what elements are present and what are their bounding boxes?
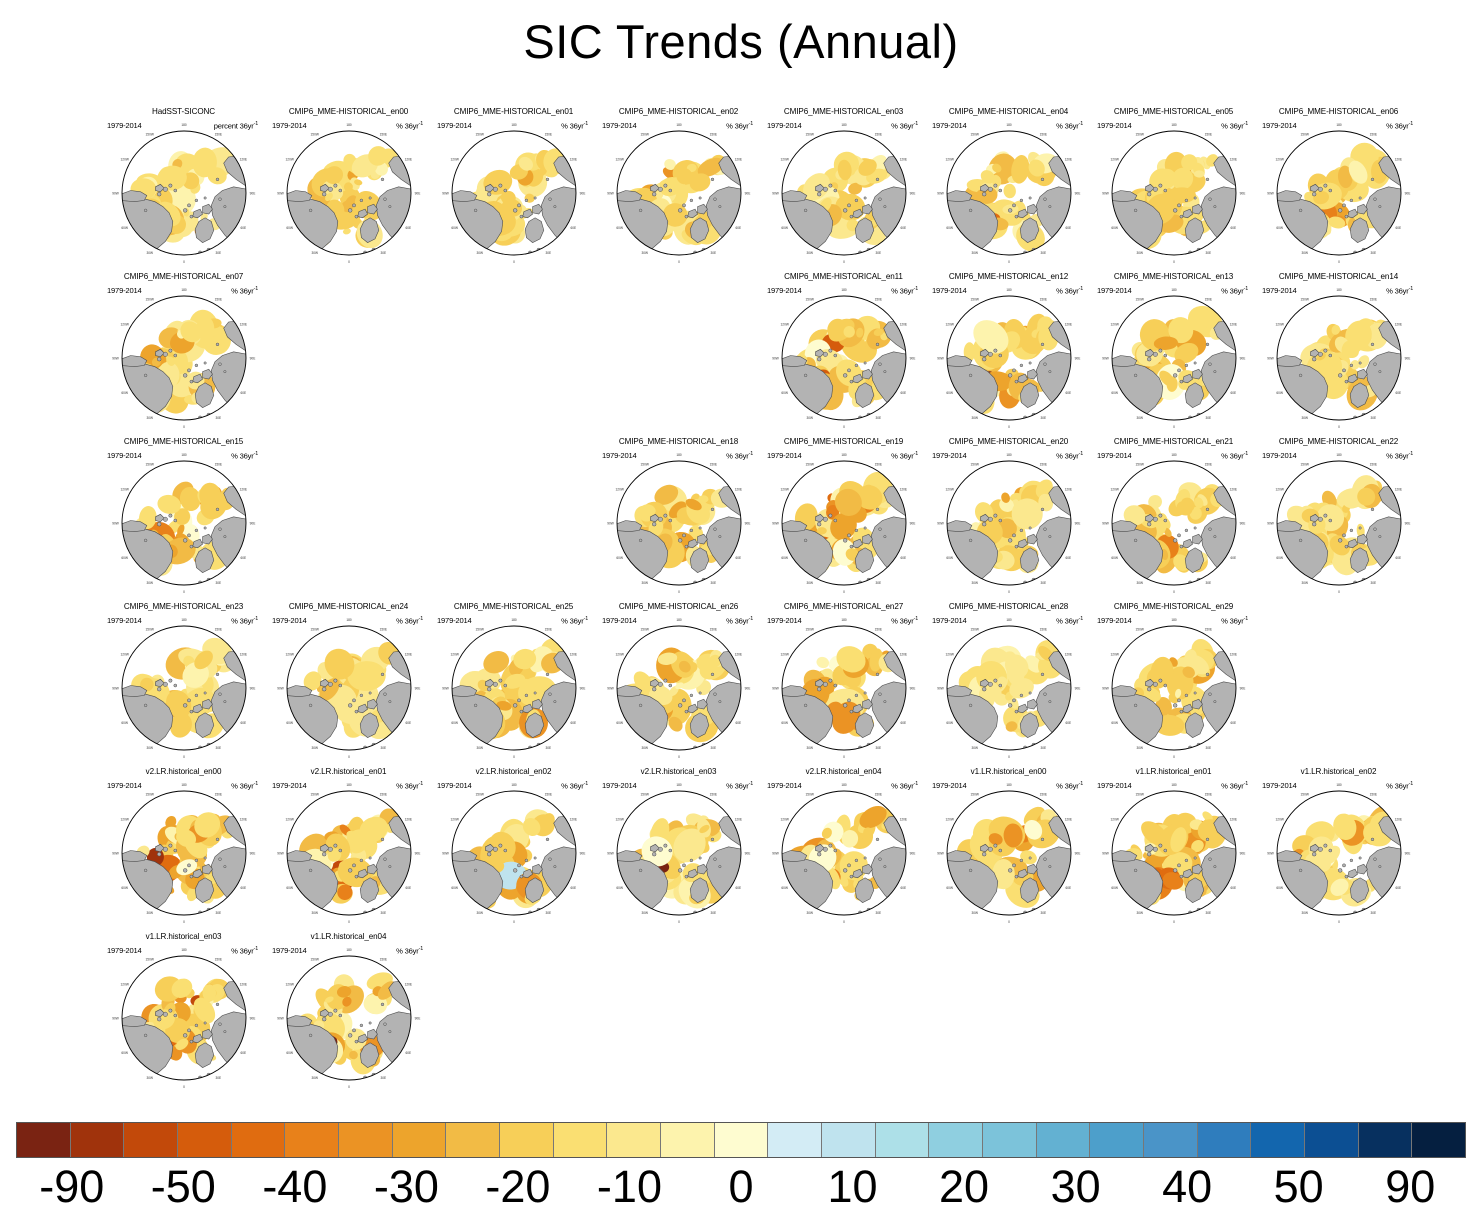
longitude-label: 150W bbox=[146, 627, 154, 631]
island bbox=[1177, 204, 1180, 207]
longitude-label: 60W bbox=[781, 226, 788, 230]
longitude-label: 60W bbox=[946, 886, 953, 890]
longitude-label: 180 bbox=[1006, 783, 1012, 787]
longitude-label: 0 bbox=[348, 755, 350, 759]
longitude-label: 120E bbox=[900, 487, 907, 491]
island bbox=[1020, 364, 1023, 367]
longitude-label: 150E bbox=[545, 132, 552, 136]
island bbox=[204, 1022, 206, 1024]
longitude-label: 30W bbox=[477, 746, 484, 750]
longitude-label: 30E bbox=[545, 911, 551, 915]
longitude-label: 150E bbox=[1370, 132, 1377, 136]
island bbox=[1342, 369, 1345, 372]
polar-map: 180150E120E90E60E30E030W60W90W120W150W bbox=[440, 617, 588, 761]
panel-map: 180150E120E90E60E30E030W60W90W120W150W bbox=[1100, 782, 1248, 926]
island bbox=[1164, 849, 1167, 852]
longitude-label: 0 bbox=[1008, 590, 1010, 594]
island bbox=[169, 349, 172, 352]
longitude-label: 150E bbox=[710, 462, 717, 466]
longitude-label: 120W bbox=[1276, 817, 1284, 821]
map-panel: HadSST-SICONC1979-2014percent 36yr-11801… bbox=[101, 106, 266, 271]
colorbar-cell bbox=[285, 1123, 339, 1157]
island bbox=[1324, 349, 1327, 352]
panel-map: 180150E120E90E60E30E030W60W90W120W150W bbox=[770, 452, 918, 596]
island bbox=[1214, 535, 1216, 537]
island bbox=[546, 178, 549, 181]
longitude-label: 120E bbox=[240, 652, 247, 656]
longitude-label: 120E bbox=[570, 817, 577, 821]
longitude-label: 90W bbox=[1102, 192, 1109, 196]
colorbar-swatches bbox=[16, 1122, 1466, 1158]
longitude-label: 120W bbox=[1111, 817, 1119, 821]
island bbox=[1371, 508, 1374, 511]
island bbox=[554, 700, 556, 702]
polar-map: 180150E120E90E60E30E030W60W90W120W150W bbox=[1100, 122, 1248, 266]
longitude-label: 60E bbox=[900, 226, 906, 230]
longitude-label: 30W bbox=[312, 911, 319, 915]
island bbox=[1194, 527, 1196, 529]
island bbox=[504, 684, 507, 687]
island bbox=[339, 849, 342, 852]
longitude-label: 150E bbox=[1205, 462, 1212, 466]
colorbar-cell bbox=[393, 1123, 447, 1157]
longitude-label: 120E bbox=[900, 817, 907, 821]
longitude-label: 30E bbox=[215, 1076, 221, 1080]
panel-map: 180150E120E90E60E30E030W60W90W120W150W bbox=[440, 122, 588, 266]
longitude-label: 120E bbox=[1230, 817, 1237, 821]
longitude-label: 0 bbox=[843, 755, 845, 759]
longitude-label: 150W bbox=[146, 462, 154, 466]
longitude-label: 90E bbox=[415, 1017, 421, 1021]
island bbox=[360, 199, 363, 202]
longitude-label: 60E bbox=[900, 556, 906, 560]
colorbar-cell bbox=[983, 1123, 1037, 1157]
longitude-label: 120W bbox=[1111, 157, 1119, 161]
island bbox=[190, 215, 193, 218]
longitude-label: 90W bbox=[772, 357, 779, 361]
island bbox=[879, 198, 882, 201]
longitude-label: 90E bbox=[1075, 357, 1081, 361]
longitude-label: 90E bbox=[1240, 192, 1246, 196]
longitude-label: 120W bbox=[946, 652, 954, 656]
polar-map: 180150E120E90E60E30E030W60W90W120W150W bbox=[1265, 287, 1413, 431]
island bbox=[884, 535, 886, 537]
island bbox=[1020, 859, 1023, 862]
island bbox=[219, 693, 222, 696]
island bbox=[1020, 199, 1023, 202]
island bbox=[834, 519, 837, 522]
longitude-label: 0 bbox=[1008, 920, 1010, 924]
longitude-label: 90W bbox=[1267, 852, 1274, 856]
island bbox=[504, 849, 507, 852]
longitude-label: 150W bbox=[311, 957, 319, 961]
map-panel: v1.LR.historical_en011979-2014% 36yr-118… bbox=[1091, 766, 1256, 931]
longitude-label: 120E bbox=[1230, 487, 1237, 491]
island bbox=[879, 858, 882, 861]
longitude-label: 90E bbox=[415, 852, 421, 856]
polar-map: 180150E120E90E60E30E030W60W90W120W150W bbox=[770, 452, 918, 596]
island bbox=[1299, 209, 1302, 212]
longitude-label: 150E bbox=[1370, 297, 1377, 301]
longitude-label: 30E bbox=[875, 581, 881, 585]
longitude-label: 0 bbox=[1173, 425, 1175, 429]
island bbox=[1342, 534, 1345, 537]
longitude-label: 30E bbox=[1040, 746, 1046, 750]
map-panel: CMIP6_MME-HISTORICAL_en201979-2014% 36yr… bbox=[926, 436, 1091, 601]
longitude-label: 60E bbox=[1395, 886, 1401, 890]
island bbox=[1049, 700, 1051, 702]
panel-map: 180150E120E90E60E30E030W60W90W120W150W bbox=[110, 782, 258, 926]
island bbox=[549, 858, 552, 861]
longitude-label: 150W bbox=[971, 297, 979, 301]
island bbox=[817, 357, 821, 361]
longitude-label: 60E bbox=[735, 886, 741, 890]
longitude-label: 60E bbox=[1065, 721, 1071, 725]
longitude-label: 120W bbox=[616, 157, 624, 161]
longitude-label: 60E bbox=[240, 1051, 246, 1055]
island bbox=[1177, 864, 1180, 867]
island bbox=[804, 209, 807, 212]
longitude-label: 60E bbox=[900, 886, 906, 890]
island bbox=[1359, 197, 1361, 199]
island bbox=[328, 1012, 332, 1016]
island bbox=[517, 864, 520, 867]
island bbox=[1379, 205, 1381, 207]
longitude-label: 30W bbox=[1137, 416, 1144, 420]
island bbox=[1299, 374, 1302, 377]
island bbox=[187, 369, 190, 372]
polar-map: 180150E120E90E60E30E030W60W90W120W150W bbox=[110, 122, 258, 266]
longitude-label: 120W bbox=[451, 817, 459, 821]
island bbox=[169, 184, 172, 187]
longitude-label: 120E bbox=[735, 652, 742, 656]
longitude-label: 30E bbox=[215, 581, 221, 585]
island bbox=[876, 178, 879, 181]
longitude-label: 180 bbox=[181, 453, 187, 457]
longitude-label: 0 bbox=[1008, 755, 1010, 759]
longitude-label: 180 bbox=[1171, 453, 1177, 457]
longitude-label: 30E bbox=[380, 251, 386, 255]
island bbox=[174, 684, 177, 687]
island bbox=[157, 852, 161, 856]
island bbox=[804, 374, 807, 377]
longitude-label: 90E bbox=[1075, 852, 1081, 856]
island bbox=[864, 362, 866, 364]
island bbox=[348, 704, 352, 708]
longitude-label: 30W bbox=[807, 911, 814, 915]
longitude-label: 90E bbox=[250, 357, 256, 361]
island bbox=[864, 527, 866, 529]
island bbox=[334, 184, 337, 187]
longitude-label: 120E bbox=[1230, 322, 1237, 326]
island bbox=[322, 192, 326, 196]
map-panel: CMIP6_MME-HISTORICAL_en251979-2014% 36yr… bbox=[431, 601, 596, 766]
island bbox=[355, 1040, 358, 1043]
longitude-label: 60W bbox=[1111, 721, 1118, 725]
longitude-label: 120E bbox=[1230, 652, 1237, 656]
map-panel: CMIP6_MME-HISTORICAL_en141979-2014% 36yr… bbox=[1256, 271, 1421, 436]
island bbox=[1345, 380, 1348, 383]
island bbox=[187, 1029, 190, 1032]
longitude-label: 150W bbox=[1136, 297, 1144, 301]
longitude-label: 90E bbox=[1405, 852, 1411, 856]
island bbox=[1008, 869, 1012, 873]
page-title: SIC Trends (Annual) bbox=[0, 14, 1482, 69]
island bbox=[988, 352, 992, 356]
polar-map: 180150E120E90E60E30E030W60W90W120W150W bbox=[605, 617, 753, 761]
longitude-label: 30W bbox=[642, 251, 649, 255]
longitude-label: 90E bbox=[910, 357, 916, 361]
longitude-label: 30E bbox=[215, 416, 221, 420]
panel-title: v2.LR.historical_en01 bbox=[266, 767, 431, 777]
island bbox=[1342, 864, 1345, 867]
longitude-label: 90E bbox=[1240, 522, 1246, 526]
longitude-label: 90E bbox=[745, 522, 751, 526]
island bbox=[1206, 838, 1209, 841]
longitude-label: 60E bbox=[735, 556, 741, 560]
island bbox=[1209, 198, 1212, 201]
longitude-label: 60E bbox=[240, 556, 246, 560]
longitude-label: 180 bbox=[676, 783, 682, 787]
island bbox=[1008, 704, 1012, 708]
island bbox=[190, 710, 193, 713]
island bbox=[352, 864, 355, 867]
polar-map: 180150E120E90E60E30E030W60W90W120W150W bbox=[110, 947, 258, 1091]
island bbox=[1015, 215, 1018, 218]
island bbox=[1324, 184, 1327, 187]
longitude-label: 120E bbox=[405, 157, 412, 161]
island bbox=[169, 844, 172, 847]
island bbox=[204, 362, 206, 364]
longitude-label: 60W bbox=[946, 556, 953, 560]
map-panel: CMIP6_MME-HISTORICAL_en151979-2014% 36yr… bbox=[101, 436, 266, 601]
longitude-label: 90E bbox=[1075, 192, 1081, 196]
longitude-label: 150E bbox=[1205, 297, 1212, 301]
island bbox=[381, 178, 384, 181]
longitude-label: 0 bbox=[1338, 590, 1340, 594]
polar-map: 180150E120E90E60E30E030W60W90W120W150W bbox=[110, 452, 258, 596]
longitude-label: 0 bbox=[513, 260, 515, 264]
longitude-label: 180 bbox=[841, 453, 847, 457]
panel-title: CMIP6_MME-HISTORICAL_en19 bbox=[761, 437, 926, 447]
island bbox=[1312, 192, 1316, 196]
island bbox=[1185, 859, 1188, 862]
panel-title: v2.LR.historical_en00 bbox=[101, 767, 266, 777]
island bbox=[876, 673, 879, 676]
longitude-label: 60W bbox=[121, 721, 128, 725]
colorbar-cell bbox=[768, 1123, 822, 1157]
island bbox=[190, 545, 193, 548]
panel-map: 180150E120E90E60E30E030W60W90W120W150W bbox=[275, 782, 423, 926]
longitude-label: 60E bbox=[1065, 226, 1071, 230]
longitude-label: 30E bbox=[1040, 911, 1046, 915]
longitude-label: 60W bbox=[781, 556, 788, 560]
panel-title: CMIP6_MME-HISTORICAL_en00 bbox=[266, 107, 431, 117]
longitude-label: 60E bbox=[1065, 391, 1071, 395]
island bbox=[1206, 673, 1209, 676]
island bbox=[994, 679, 997, 682]
longitude-label: 90E bbox=[1405, 357, 1411, 361]
panel-title: CMIP6_MME-HISTORICAL_en01 bbox=[431, 107, 596, 117]
longitude-label: 60W bbox=[781, 391, 788, 395]
island bbox=[652, 522, 656, 526]
island bbox=[699, 197, 701, 199]
island bbox=[187, 699, 190, 702]
longitude-label: 150W bbox=[146, 132, 154, 136]
longitude-label: 30W bbox=[1137, 581, 1144, 585]
island bbox=[163, 1012, 167, 1016]
island bbox=[163, 352, 167, 356]
island bbox=[847, 699, 850, 702]
island bbox=[829, 184, 832, 187]
longitude-label: 30W bbox=[972, 581, 979, 585]
longitude-label: 120W bbox=[946, 487, 954, 491]
island bbox=[1041, 343, 1044, 346]
island bbox=[1329, 849, 1332, 852]
island bbox=[322, 852, 326, 856]
island bbox=[1173, 539, 1177, 543]
island bbox=[204, 527, 206, 529]
island bbox=[1359, 362, 1361, 364]
polar-map: 180150E120E90E60E30E030W60W90W120W150W bbox=[1100, 617, 1248, 761]
island bbox=[711, 673, 714, 676]
island bbox=[1044, 693, 1047, 696]
longitude-label: 60E bbox=[900, 721, 906, 725]
longitude-label: 150E bbox=[875, 462, 882, 466]
longitude-label: 60E bbox=[240, 721, 246, 725]
island bbox=[1049, 205, 1051, 207]
island bbox=[1214, 865, 1216, 867]
island bbox=[1044, 528, 1047, 531]
island bbox=[190, 875, 193, 878]
polar-map: 180150E120E90E60E30E030W60W90W120W150W bbox=[440, 122, 588, 266]
longitude-label: 90W bbox=[772, 522, 779, 526]
longitude-label: 90E bbox=[1075, 522, 1081, 526]
longitude-label: 120W bbox=[451, 157, 459, 161]
island bbox=[1312, 357, 1316, 361]
longitude-label: 60W bbox=[616, 226, 623, 230]
island bbox=[1194, 362, 1196, 364]
panel-map: 180150E120E90E60E30E030W60W90W120W150W bbox=[1265, 452, 1413, 596]
island bbox=[834, 849, 837, 852]
longitude-label: 150E bbox=[1040, 627, 1047, 631]
longitude-label: 0 bbox=[183, 590, 185, 594]
longitude-label: 180 bbox=[511, 123, 517, 127]
polar-map: 180150E120E90E60E30E030W60W90W120W150W bbox=[935, 452, 1083, 596]
longitude-label: 150W bbox=[806, 792, 814, 796]
colorbar-cell bbox=[500, 1123, 554, 1157]
island bbox=[699, 857, 701, 859]
longitude-label: 90W bbox=[607, 687, 614, 691]
island bbox=[1185, 694, 1188, 697]
colorbar-cell bbox=[554, 1123, 608, 1157]
island bbox=[348, 209, 352, 213]
island bbox=[174, 519, 177, 522]
longitude-label: 60E bbox=[1395, 226, 1401, 230]
island bbox=[829, 514, 832, 517]
panel-map: 180150E120E90E60E30E030W60W90W120W150W bbox=[275, 617, 423, 761]
island bbox=[355, 710, 358, 713]
panel-map: 180150E120E90E60E30E030W60W90W120W150W bbox=[440, 782, 588, 926]
map-panel: CMIP6_MME-HISTORICAL_en121979-2014% 36yr… bbox=[926, 271, 1091, 436]
panel-map: 180150E120E90E60E30E030W60W90W120W150W bbox=[1100, 122, 1248, 266]
longitude-label: 150E bbox=[1040, 297, 1047, 301]
island bbox=[639, 704, 642, 707]
longitude-label: 150W bbox=[476, 792, 484, 796]
longitude-label: 120W bbox=[616, 652, 624, 656]
longitude-label: 30W bbox=[477, 911, 484, 915]
panel-title: v2.LR.historical_en02 bbox=[431, 767, 596, 777]
trend-contour bbox=[1194, 170, 1205, 177]
island bbox=[525, 859, 528, 862]
longitude-label: 30W bbox=[1302, 416, 1309, 420]
island bbox=[1159, 184, 1162, 187]
island bbox=[144, 209, 147, 212]
island bbox=[195, 1024, 198, 1027]
island bbox=[669, 684, 672, 687]
island bbox=[1214, 700, 1216, 702]
longitude-label: 90W bbox=[772, 852, 779, 856]
island bbox=[1350, 859, 1353, 862]
island bbox=[678, 869, 682, 873]
island bbox=[658, 517, 662, 521]
longitude-label: 60W bbox=[451, 226, 458, 230]
map-panel: CMIP6_MME-HISTORICAL_en281979-2014% 36yr… bbox=[926, 601, 1091, 766]
longitude-label: 90E bbox=[910, 522, 916, 526]
island bbox=[549, 693, 552, 696]
longitude-label: 60W bbox=[1276, 391, 1283, 395]
island bbox=[1318, 847, 1322, 851]
longitude-label: 120E bbox=[570, 652, 577, 656]
island bbox=[823, 517, 827, 521]
island bbox=[183, 374, 187, 378]
longitude-label: 150E bbox=[380, 132, 387, 136]
island bbox=[157, 357, 161, 361]
colorbar-cell bbox=[71, 1123, 125, 1157]
longitude-label: 120E bbox=[1065, 322, 1072, 326]
island bbox=[982, 687, 986, 691]
island bbox=[219, 528, 222, 531]
island bbox=[525, 199, 528, 202]
longitude-label: 60E bbox=[405, 226, 411, 230]
longitude-label: 120W bbox=[451, 652, 459, 656]
longitude-label: 60W bbox=[946, 721, 953, 725]
island bbox=[513, 869, 517, 873]
polar-map: 180150E120E90E60E30E030W60W90W120W150W bbox=[605, 782, 753, 926]
longitude-label: 120E bbox=[1395, 322, 1402, 326]
island bbox=[487, 192, 491, 196]
island bbox=[879, 693, 882, 696]
longitude-label: 90W bbox=[112, 357, 119, 361]
island bbox=[1134, 539, 1137, 542]
island bbox=[847, 204, 850, 207]
island bbox=[224, 1030, 226, 1032]
longitude-label: 30W bbox=[147, 251, 154, 255]
island bbox=[389, 205, 391, 207]
island bbox=[1312, 852, 1316, 856]
longitude-label: 150E bbox=[875, 792, 882, 796]
longitude-label: 150W bbox=[806, 297, 814, 301]
longitude-label: 60W bbox=[286, 226, 293, 230]
island bbox=[144, 374, 147, 377]
panel-title: CMIP6_MME-HISTORICAL_en14 bbox=[1256, 272, 1421, 282]
island bbox=[1379, 865, 1381, 867]
island bbox=[1173, 374, 1177, 378]
island bbox=[190, 380, 193, 383]
longitude-label: 120E bbox=[570, 157, 577, 161]
longitude-label: 150W bbox=[1136, 462, 1144, 466]
island bbox=[163, 847, 167, 851]
